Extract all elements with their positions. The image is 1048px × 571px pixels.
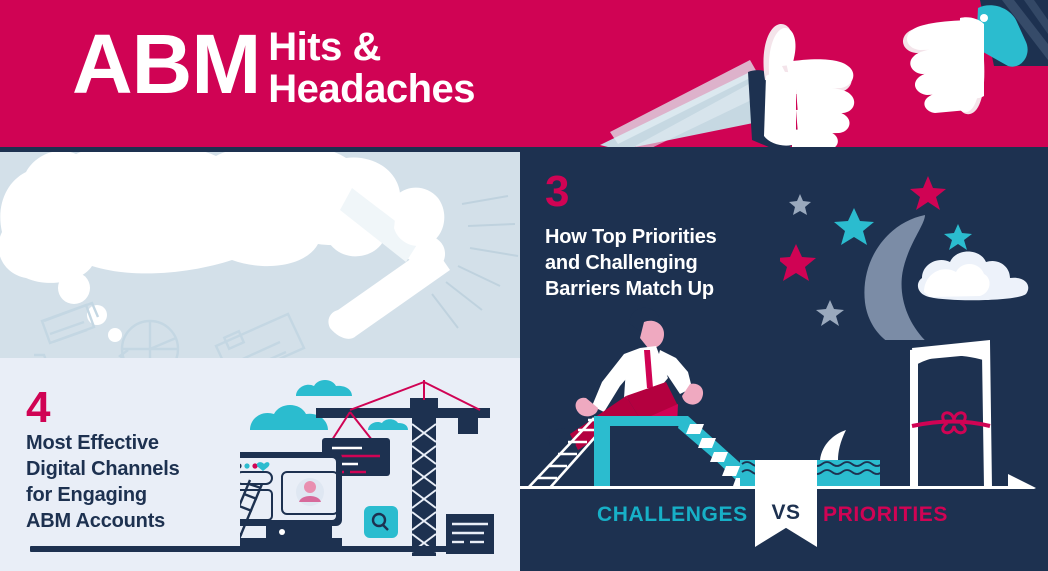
thought-bubble-panel bbox=[0, 152, 520, 358]
section-four-number: 4 bbox=[26, 386, 49, 430]
envelope-icon bbox=[216, 314, 304, 358]
search-chip-icon bbox=[364, 506, 398, 538]
subtitle-line-2: Headaches bbox=[268, 67, 475, 111]
section-three-title-line-1: How Top Priorities bbox=[545, 226, 717, 248]
bubble-illustration bbox=[0, 152, 520, 358]
website-construction-illustration bbox=[240, 368, 520, 568]
gavel-icon bbox=[323, 178, 451, 339]
section-four-title-line-3: for Engaging bbox=[26, 484, 147, 506]
section-four-title: Most Effective Digital Channels for Enga… bbox=[26, 430, 276, 534]
header-banner: ABM Hits & Headaches bbox=[0, 0, 1048, 147]
section-three-title-line-3: Barriers Match Up bbox=[545, 278, 714, 300]
vs-label: VS bbox=[755, 501, 817, 525]
thumbs-down-icon bbox=[890, 0, 1048, 140]
section-three-title: How Top Priorities and Challenging Barri… bbox=[545, 224, 825, 302]
ribbon-bow-icon bbox=[912, 413, 990, 433]
pie-chart-icon bbox=[120, 321, 178, 358]
cloud-icon bbox=[918, 252, 1028, 301]
section-four-title-line-4: ABM Accounts bbox=[26, 510, 165, 532]
section-three-number: 3 bbox=[545, 170, 568, 214]
header-title: ABM Hits & Headaches bbox=[72, 22, 475, 110]
challenges-label: CHALLENGES bbox=[597, 503, 748, 527]
brand-text: ABM bbox=[72, 22, 260, 106]
shopping-cart-icon bbox=[30, 303, 98, 358]
shark-fin-icon bbox=[820, 430, 846, 460]
section-three-title-line-2: and Challenging bbox=[545, 252, 698, 274]
cloud-icon bbox=[250, 380, 408, 430]
priorities-label: PRIORITIES bbox=[823, 503, 948, 527]
section-four-panel: 4 Most Effective Digital Channels for En… bbox=[0, 358, 520, 571]
infographic-root: ABM Hits & Headaches bbox=[0, 0, 1048, 571]
header-subtitle: Hits & Headaches bbox=[268, 26, 475, 110]
section-four-ground-line bbox=[30, 546, 480, 552]
section-four-title-line-1: Most Effective bbox=[26, 432, 159, 454]
thumbs-up-icon bbox=[600, 0, 880, 147]
subtitle-line-1: Hits & bbox=[268, 25, 381, 69]
section-four-title-line-2: Digital Channels bbox=[26, 458, 180, 480]
